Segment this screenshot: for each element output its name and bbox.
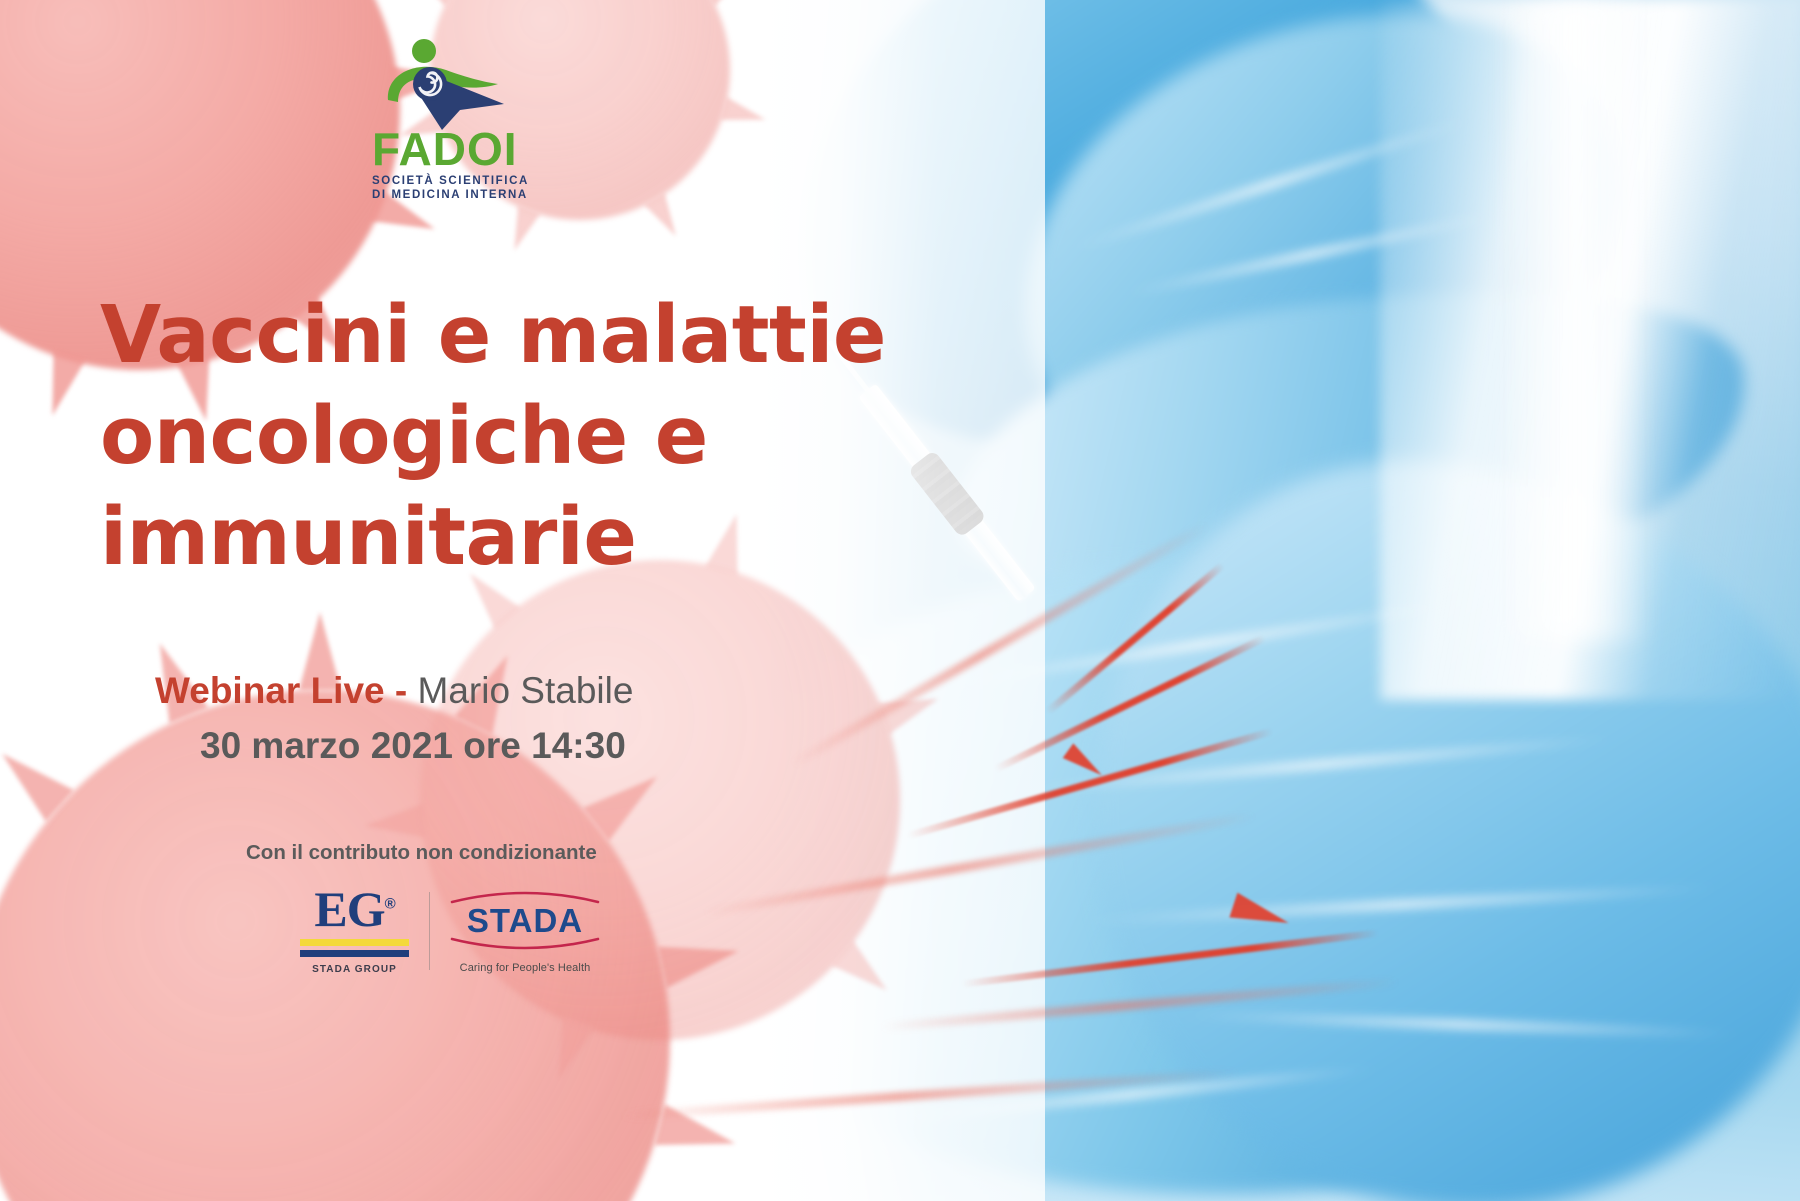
virus-spike-streak	[994, 635, 1267, 773]
virus-spike-streak	[881, 977, 1400, 1031]
webinar-poster: FADOI SOCIETÀ SCIENTIFICA DI MEDICINA IN…	[0, 0, 1800, 1201]
sponsorship-note: Con il contributo non condizionante	[246, 841, 597, 865]
eg-caption: STADA GROUP	[300, 964, 409, 975]
title-line-1: Vaccini e malattie	[100, 285, 900, 386]
eg-navy-bar	[300, 950, 409, 957]
registered-trademark-icon: ®	[385, 896, 395, 913]
event-datetime: 30 marzo 2021 ore 14:30	[200, 725, 626, 767]
virus-spike-tip	[1063, 743, 1108, 782]
speaker-name: Mario Stabile	[407, 670, 633, 711]
poster-content: Vaccini e malattie oncologiche e immunit…	[0, 0, 900, 1201]
speaker-line: Webinar Live - Mario Stabile	[155, 663, 633, 719]
stada-logo: STADA Caring for People's Health	[450, 888, 600, 974]
logo-divider	[429, 892, 430, 970]
eg-yellow-bar	[300, 939, 409, 946]
title-line-3: immunitarie	[100, 487, 900, 588]
eg-wordmark: EG®	[300, 886, 409, 934]
sponsor-logos: EG® STADA GROUP STADA Caring for People'…	[300, 878, 600, 983]
virus-spike-tip	[1229, 893, 1292, 936]
event-format-label: Webinar Live -	[155, 670, 407, 711]
stada-wordmark: STADA	[450, 904, 600, 937]
stada-tagline: Caring for People's Health	[450, 962, 600, 974]
page-title: Vaccini e malattie oncologiche e immunit…	[100, 285, 900, 588]
virus-spike-streak	[961, 929, 1379, 987]
virus-spike-streak	[1045, 562, 1226, 715]
eg-text: EG	[314, 881, 384, 937]
eg-stada-group-logo: EG® STADA GROUP	[300, 886, 409, 975]
title-line-2: oncologiche e	[100, 386, 900, 487]
stada-arc-bottom-icon	[450, 937, 600, 953]
